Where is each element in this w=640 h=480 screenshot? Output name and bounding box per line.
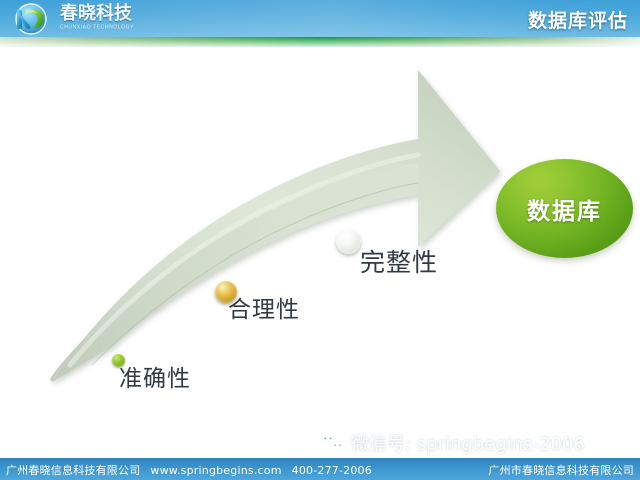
- step-label-2: 合理性: [228, 290, 300, 324]
- brand-logo[interactable]: 春晓科技 CHUNXIAO TECHNOLOGY: [4, 2, 154, 36]
- footer-right-company: 广州市春晓信息科技有限公司: [488, 462, 634, 478]
- footer-left-group: 广州春晓信息科技有限公司www.springbegins.com400-277-…: [6, 462, 372, 478]
- step-label-1: 准确性: [119, 359, 191, 393]
- footer-company: 广州春晓信息科技有限公司: [6, 464, 140, 477]
- brand-logo-text: 春晓科技 CHUNXIAO TECHNOLOGY: [60, 4, 152, 31]
- brand-name-cn: 春晓科技: [60, 4, 152, 23]
- header-accent-strip: [0, 37, 640, 47]
- wechat-id-text: 微信号: springbegins-2006: [351, 430, 585, 456]
- target-node[interactable]: 数据库: [496, 159, 633, 258]
- brand-name-en: CHUNXIAO TECHNOLOGY: [60, 23, 152, 32]
- slide-canvas: 春晓科技 CHUNXIAO TECHNOLOGY 数据库评估: [0, 0, 640, 480]
- step-label-3: 完整性: [360, 243, 438, 279]
- footer-website[interactable]: www.springbegins.com: [150, 464, 281, 477]
- chunxiao-logo-emblem: [6, 3, 56, 35]
- wechat-icon: [318, 431, 346, 455]
- diagram-area: 准确性 合理性 完整性 数据库: [0, 47, 640, 458]
- step-marker-3[interactable]: [336, 229, 361, 254]
- target-node-label: 数据库: [496, 159, 633, 258]
- wechat-watermark: 微信号: springbegins-2006: [318, 428, 585, 458]
- page-title: 数据库评估: [528, 6, 628, 33]
- footer-phone: 400-277-2006: [292, 464, 372, 477]
